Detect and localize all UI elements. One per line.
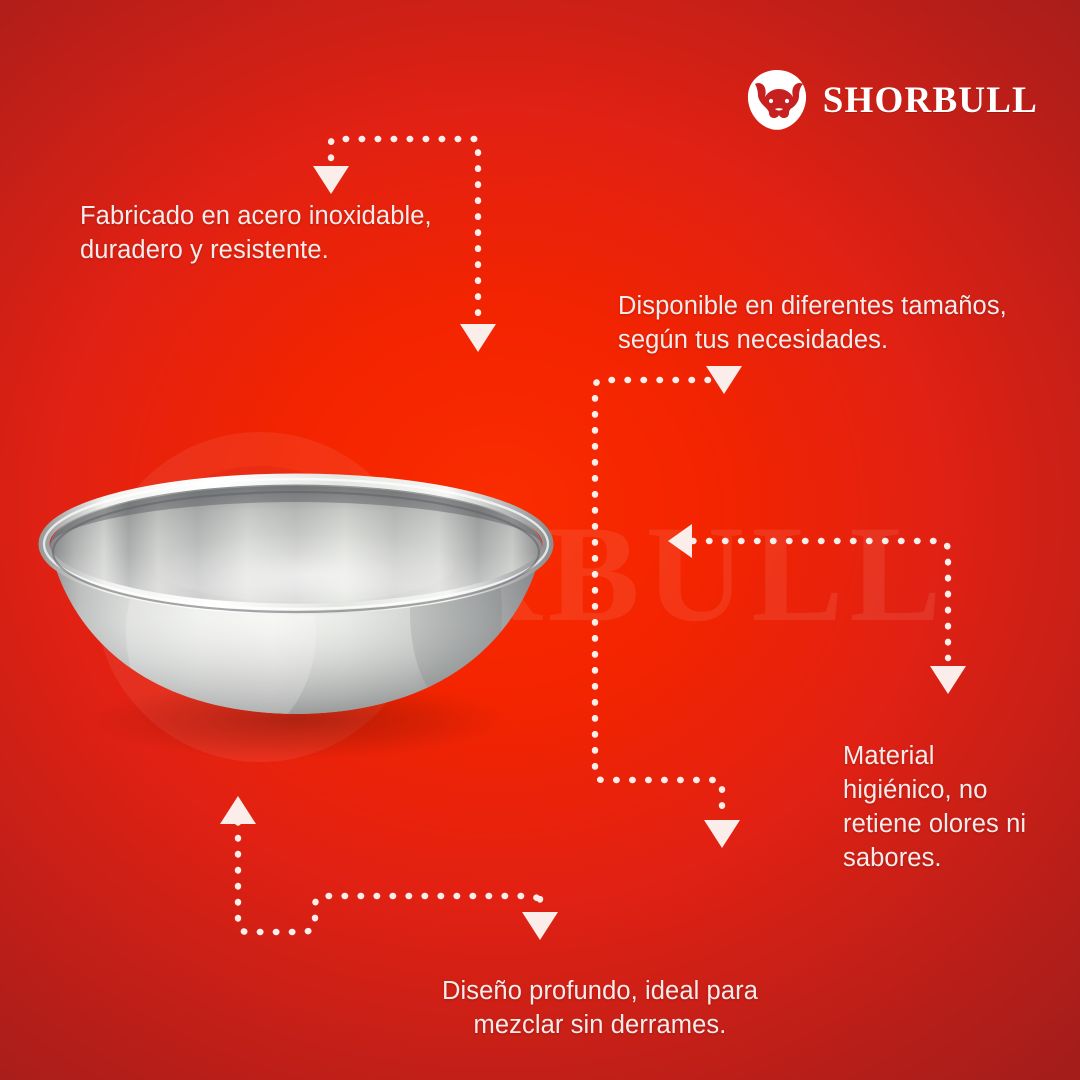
bull-head-badge-icon — [745, 68, 809, 132]
brand-logo[interactable]: SHORBULL — [745, 68, 1038, 132]
arrowhead-down-right — [460, 324, 496, 352]
arrowhead-down-right — [930, 666, 966, 694]
callout-line: Disponible en diferentes tamaños, — [618, 290, 1038, 324]
callout-text-deep-design: Diseño profundo, ideal para mezclar sin … — [380, 975, 820, 1043]
callout-line: según tus necesidades. — [618, 324, 1038, 358]
bowl-illustration — [36, 462, 556, 774]
callout-line: mezclar sin derrames. — [380, 1009, 820, 1043]
product-image-mixing-bowl — [36, 462, 556, 774]
brand-name-text: SHORBULL — [823, 79, 1038, 122]
arrowhead-left — [668, 524, 692, 558]
callout-line: Material — [843, 740, 1053, 774]
product-infographic-poster: SHORBULL — [0, 0, 1080, 1080]
callout-line: Fabricado en acero inoxidable, — [80, 200, 480, 234]
callout-line: higiénico, no — [843, 774, 1053, 808]
arrowhead-down-top — [706, 366, 742, 394]
arrowhead-down-bottom — [704, 820, 740, 848]
callout-text-material: Fabricado en acero inoxidable, duradero … — [80, 200, 480, 268]
callout-line: duradero y resistente. — [80, 234, 480, 268]
connector-deep-design — [220, 796, 558, 940]
callout-text-sizes: Disponible en diferentes tamaños, según … — [618, 290, 1038, 358]
callout-line: Diseño profundo, ideal para — [380, 975, 820, 1009]
arrowhead-up — [220, 796, 256, 824]
connector-sizes — [595, 366, 742, 848]
arrowhead-down-left — [313, 166, 349, 194]
connector-hygienic — [668, 524, 966, 694]
callout-line: retiene olores ni — [843, 808, 1053, 842]
callout-line: sabores. — [843, 842, 1053, 876]
callout-text-hygienic: Material higiénico, no retiene olores ni… — [843, 740, 1053, 876]
arrowhead-down — [522, 912, 558, 940]
